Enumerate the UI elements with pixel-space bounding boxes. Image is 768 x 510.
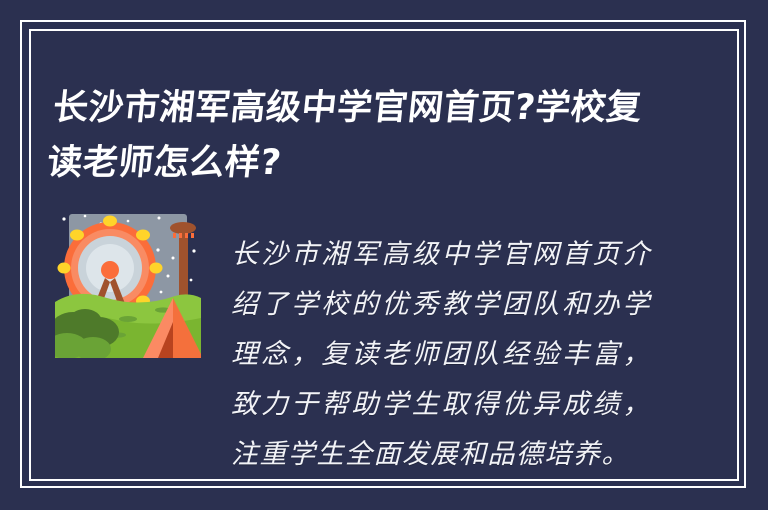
body-paragraph: 长沙市湘军高级中学官网首页介绍了学校的优秀教学团队和办学理念，复读老师团队经验丰…	[231, 230, 651, 480]
illustration-container	[55, 206, 201, 358]
amusement-park-illustration	[55, 206, 201, 358]
light-pole-top-cap	[170, 222, 196, 234]
page-title: 长沙市湘军高级中学官网首页?学校复读老师怎么样?	[44, 81, 676, 191]
ferris-wheel-hub	[101, 261, 119, 279]
poster-card: 长沙市湘军高级中学官网首页?学校复读老师怎么样?	[0, 0, 768, 510]
light-pole-mast	[179, 228, 188, 306]
